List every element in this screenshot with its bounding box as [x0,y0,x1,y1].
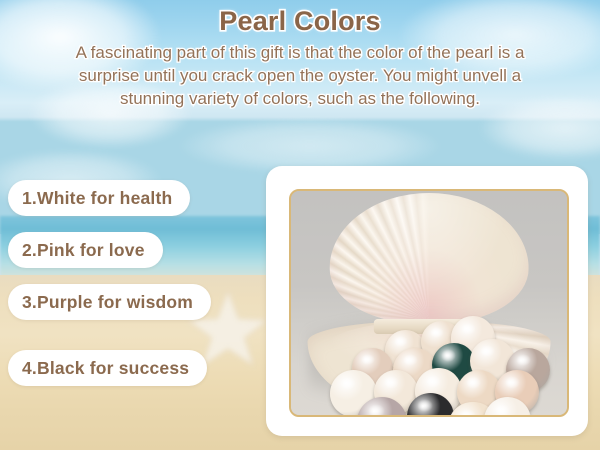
list-item[interactable]: 3.Purple for wisdom [8,284,211,320]
list-item-label: 2.Pink for love [22,240,145,261]
list-item[interactable]: 1.White for health [8,180,190,216]
list-item-label: 3.Purple for wisdom [22,292,193,313]
pearl-shell-photo [291,191,567,415]
list-item-label: 1.White for health [22,188,172,209]
page-title: Pearl Colors [0,6,600,37]
header: Pearl Colors A fascinating part of this … [0,6,600,110]
list-item[interactable]: 2.Pink for love [8,232,163,268]
photo-frame [289,189,569,417]
pearl-cluster [291,191,567,415]
slide-root: Pearl Colors A fascinating part of this … [0,0,600,450]
photo-card [266,166,588,436]
list-item[interactable]: 4.Black for success [8,350,207,386]
list-item-label: 4.Black for success [22,358,189,379]
intro-paragraph: A fascinating part of this gift is that … [65,41,535,110]
